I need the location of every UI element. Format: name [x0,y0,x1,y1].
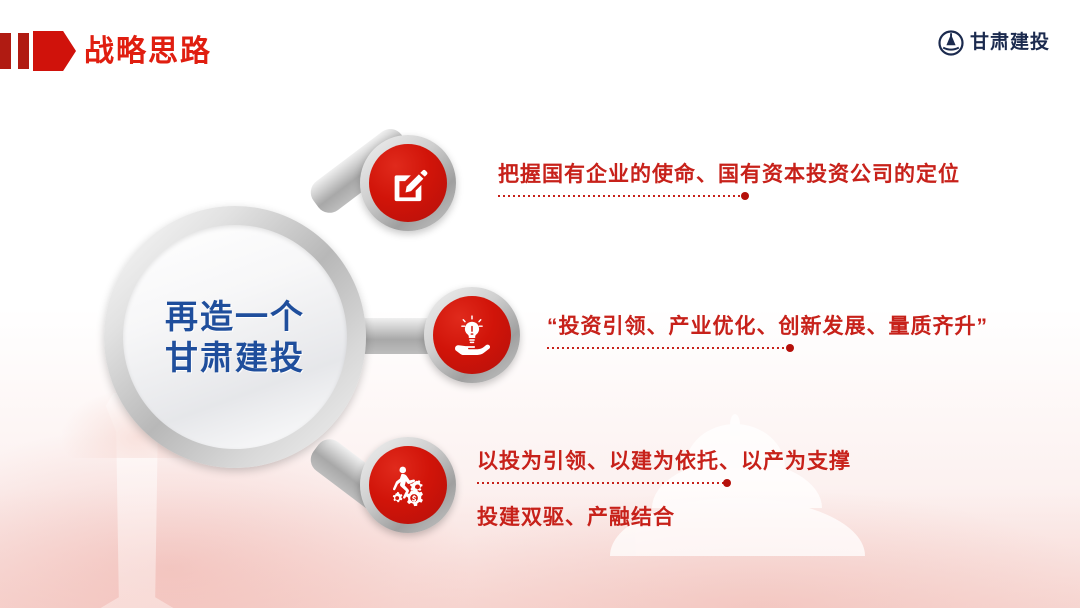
item-1-line-1: 把握国有企业的使命、国有资本投资公司的定位 [498,160,960,190]
strategy-diagram: 再造一个 甘肃建投 [0,0,1080,608]
item-3-line-1: 以投为引领、以建为依托、以产为支撑 [477,447,851,477]
central-hub-inner: 再造一个 甘肃建投 [123,225,347,449]
hand-lightbulb-icon [450,313,494,357]
hub-line-2: 甘肃建投 [165,337,305,378]
node-item-3-core [369,446,447,524]
item-1-text-block: 把握国有企业的使命、国有资本投资公司的定位 [498,160,960,202]
person-gears-money-icon [386,463,430,507]
central-hub: 再造一个 甘肃建投 [104,206,366,468]
item-2-line-1: “投资引领、产业优化、创新发展、量质齐升” [547,312,988,342]
item-2-dotted-rule [547,344,988,352]
item-3-text-block: 以投为引领、以建为依托、以产为支撑 投建双驱、产融结合 [477,447,851,533]
node-item-3[interactable] [360,437,456,533]
slide-canvas: 战略思路 甘肃建投 再造一个 甘肃建投 [0,0,1080,608]
item-2-text-block: “投资引领、产业优化、创新发展、量质齐升” [547,312,988,354]
node-item-2[interactable] [424,287,520,383]
item-3-line-2: 投建双驱、产融结合 [477,503,851,533]
node-item-2-core [433,296,511,374]
node-item-1-core [369,144,447,222]
hub-line-1: 再造一个 [165,296,305,337]
pencil-edit-icon [387,162,429,204]
item-1-dotted-rule [498,192,960,200]
node-item-1[interactable] [360,135,456,231]
item-3-dotted-rule [477,479,851,487]
